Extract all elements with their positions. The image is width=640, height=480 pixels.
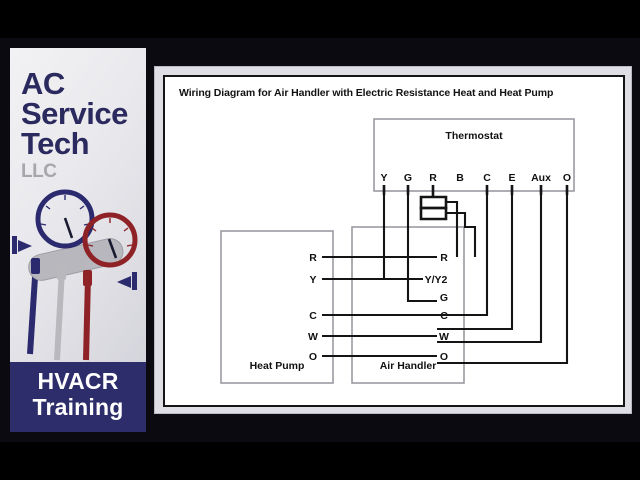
- tstat-terminal-R: R: [429, 172, 437, 184]
- tstat-terminal-C: C: [483, 172, 491, 184]
- brand-line-ac: AC: [21, 68, 65, 99]
- diagram-panel: Wiring Diagram for Air Handler with Elec…: [154, 66, 632, 414]
- tstat-terminal-Aux: Aux: [531, 172, 551, 184]
- brand-line-service: Service: [21, 98, 128, 129]
- ah-terminal-R: R: [440, 252, 448, 264]
- brand-upper: AC Service Tech LLC: [10, 48, 146, 362]
- banner-line-hvacr: HVACR: [10, 368, 146, 395]
- hp-terminal-R: R: [309, 252, 317, 264]
- thermostat-box-label: Thermostat: [445, 130, 503, 142]
- air-handler-box-label: Air Handler: [380, 360, 437, 372]
- hvacr-training-banner: HVACR Training: [10, 362, 146, 432]
- tstat-terminal-E: E: [508, 172, 515, 184]
- diagram-sheet: Wiring Diagram for Air Handler with Elec…: [163, 75, 625, 407]
- hp-terminal-C: C: [309, 310, 317, 322]
- ah-terminal-YY2: Y/Y2: [425, 274, 448, 286]
- tstat-terminal-Y: Y: [380, 172, 387, 184]
- ah-terminal-O: O: [440, 351, 448, 363]
- brand-line-tech: Tech: [21, 128, 89, 159]
- wiring-diagram-svg: Thermostat Y G R B C E Aux O Heat Pump R…: [165, 77, 623, 405]
- brand-panel: AC Service Tech LLC: [10, 48, 146, 432]
- hp-terminal-W: W: [308, 331, 318, 343]
- ah-terminal-G: G: [440, 292, 448, 304]
- tstat-terminal-G: G: [404, 172, 412, 184]
- banner-line-training: Training: [10, 394, 146, 421]
- brand-line-llc: LLC: [21, 162, 56, 181]
- tstat-terminal-B: B: [456, 172, 464, 184]
- manifold-gauge-logo-icon: [10, 184, 146, 362]
- wire-r-jumper: [421, 197, 446, 219]
- hp-terminal-Y: Y: [309, 274, 316, 286]
- screenshot-root: AC Service Tech LLC: [0, 0, 640, 480]
- hp-terminal-O: O: [309, 351, 317, 363]
- heat-pump-box-label: Heat Pump: [250, 360, 305, 372]
- tstat-terminal-O: O: [563, 172, 571, 184]
